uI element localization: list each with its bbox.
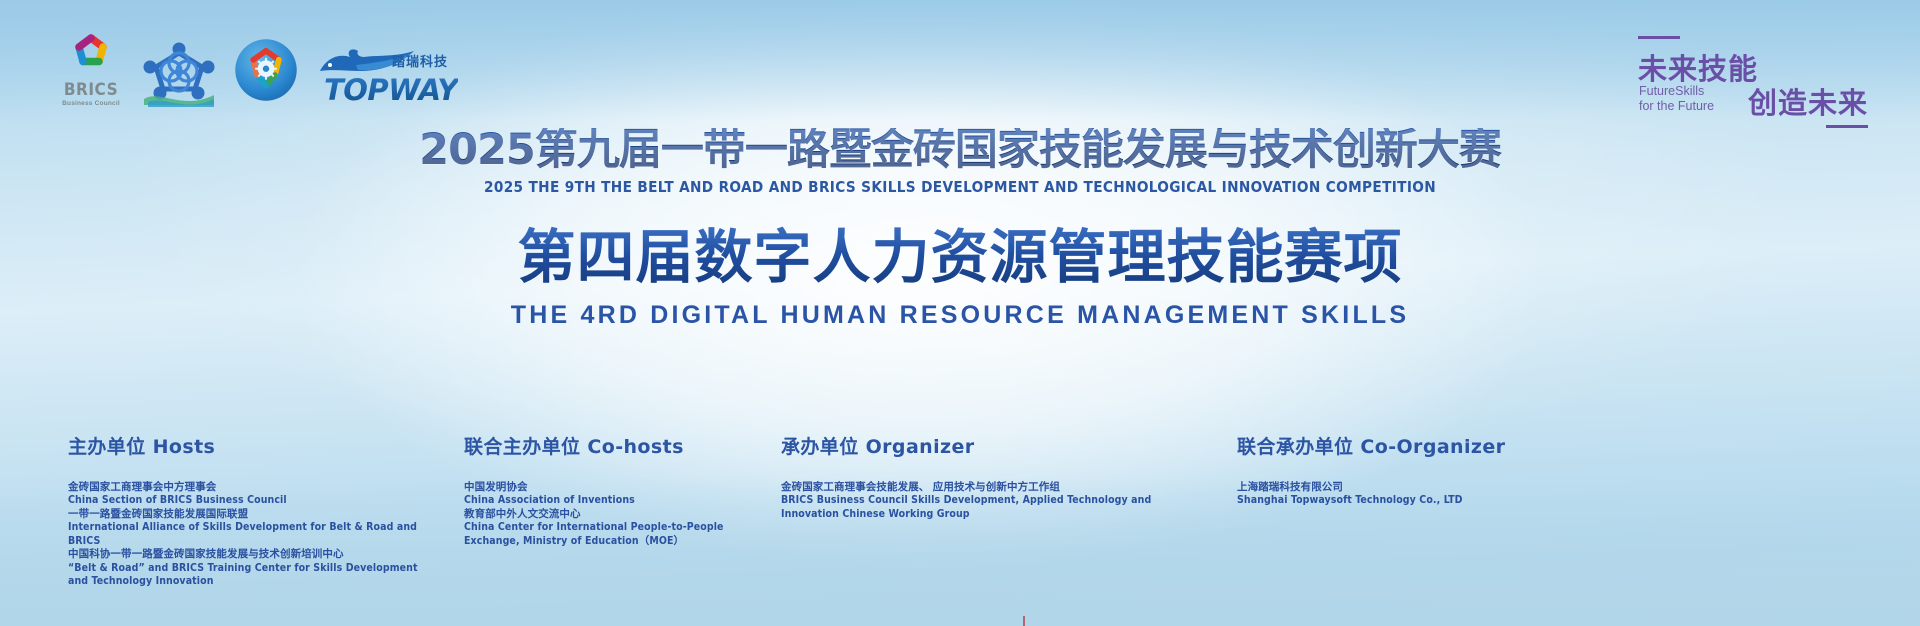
- column-heading: 承办单位 Organizer: [781, 432, 1201, 459]
- international-alliance-logo: [142, 41, 216, 107]
- brics-business-council-logo: BRICS Business Council: [58, 30, 124, 107]
- organizer-column-hosts: 主办单位 Hosts 金砖国家工商理事会中方理事会 China Section …: [68, 432, 448, 589]
- org-line: China Section of BRICS Business Council: [68, 494, 448, 507]
- main-title-cn: 2025第九届一带一路暨金砖国家技能发展与技术创新大赛: [0, 128, 1920, 173]
- org-line: China Center for International People-to…: [464, 521, 764, 534]
- org-line: 上海踏瑞科技有限公司: [1237, 481, 1557, 494]
- topway-wordmark: TOPWAY: [324, 76, 458, 105]
- blue-molecule-flower-icon: [142, 41, 216, 107]
- sponsor-logo-row: BRICS Business Council: [58, 30, 448, 107]
- future-skills-badge: 未来技能 FutureSkills for the Future 创造未来: [1638, 28, 1868, 128]
- org-line: China Association of Inventions: [464, 494, 764, 507]
- brics-skills-emblem-logo: [234, 38, 298, 107]
- organizer-column-coorganizer: 联合承办单位 Co-Organizer 上海踏瑞科技有限公司 Shanghai …: [1237, 432, 1557, 508]
- future-skills-cn-line1: 未来技能: [1638, 46, 1758, 88]
- organizer-columns: 主办单位 Hosts 金砖国家工商理事会中方理事会 China Section …: [0, 432, 1920, 612]
- org-line: 金砖国家工商理事会中方理事会: [68, 481, 448, 494]
- topway-logo: 踏瑞科技 TOPWAY: [316, 45, 448, 107]
- org-line: International Alliance of Skills Develop…: [68, 521, 448, 548]
- column-body: 中国发明协会 China Association of Inventions 教…: [464, 481, 764, 548]
- org-line: “Belt & Road” and BRICS Training Center …: [68, 562, 448, 575]
- org-line: 一带一路暨金砖国家技能发展国际联盟: [68, 508, 448, 521]
- org-line: 中国科协一带一路暨金砖国家技能发展与技术创新培训中心: [68, 548, 448, 561]
- org-line: 中国发明协会: [464, 481, 764, 494]
- organizer-column-organizer: 承办单位 Organizer 金砖国家工商理事会技能发展、 应用技术与创新中方工…: [781, 432, 1201, 521]
- future-skills-en: FutureSkills for the Future: [1639, 84, 1714, 114]
- org-line: Shanghai Topwaysoft Technology Co., LTD: [1237, 494, 1557, 507]
- event-title-cn: 第四届数字人力资源管理技能赛项: [0, 226, 1920, 289]
- rule-bottom: [1826, 125, 1868, 128]
- column-heading: 主办单位 Hosts: [68, 432, 448, 459]
- topway-chinese-name: 踏瑞科技: [392, 51, 448, 70]
- org-line: BRICS Business Council Skills Developmen…: [781, 494, 1201, 507]
- bottom-center-marker: [1023, 616, 1025, 626]
- column-body: 金砖国家工商理事会技能发展、 应用技术与创新中方工作组 BRICS Busine…: [781, 481, 1201, 521]
- organizer-column-cohosts: 联合主办单位 Co-hosts 中国发明协会 China Association…: [464, 432, 764, 548]
- future-skills-en-line1: FutureSkills: [1639, 84, 1714, 99]
- brics-wordmark: BRICS: [64, 82, 118, 99]
- org-line: 教育部中外人文交流中心: [464, 508, 764, 521]
- event-title-en: THE 4RD DIGITAL HUMAN RESOURCE MANAGEMEN…: [0, 301, 1920, 330]
- org-line: 金砖国家工商理事会技能发展、 应用技术与创新中方工作组: [781, 481, 1201, 494]
- round-star-gear-emblem-icon: [234, 38, 298, 102]
- five-color-star-icon: [66, 30, 116, 80]
- brics-subtitle: Business Council: [62, 100, 120, 107]
- rule-top: [1638, 36, 1680, 39]
- column-body: 上海踏瑞科技有限公司 Shanghai Topwaysoft Technolog…: [1237, 481, 1557, 508]
- org-line: and Technology Innovation: [68, 575, 448, 588]
- column-heading: 联合承办单位 Co-Organizer: [1237, 432, 1557, 459]
- column-body: 金砖国家工商理事会中方理事会 China Section of BRICS Bu…: [68, 481, 448, 589]
- main-title-en: 2025 THE 9TH THE BELT AND ROAD AND BRICS…: [19, 178, 1901, 196]
- org-line: Exchange, Ministry of Education（MOE）: [464, 535, 764, 548]
- future-skills-en-line2: for the Future: [1639, 99, 1714, 114]
- org-line: Innovation Chinese Working Group: [781, 508, 1201, 521]
- title-block: 2025第九届一带一路暨金砖国家技能发展与技术创新大赛 2025 THE 9TH…: [0, 128, 1920, 330]
- column-heading: 联合主办单位 Co-hosts: [464, 432, 764, 459]
- future-skills-cn-line2: 创造未来: [1748, 80, 1868, 122]
